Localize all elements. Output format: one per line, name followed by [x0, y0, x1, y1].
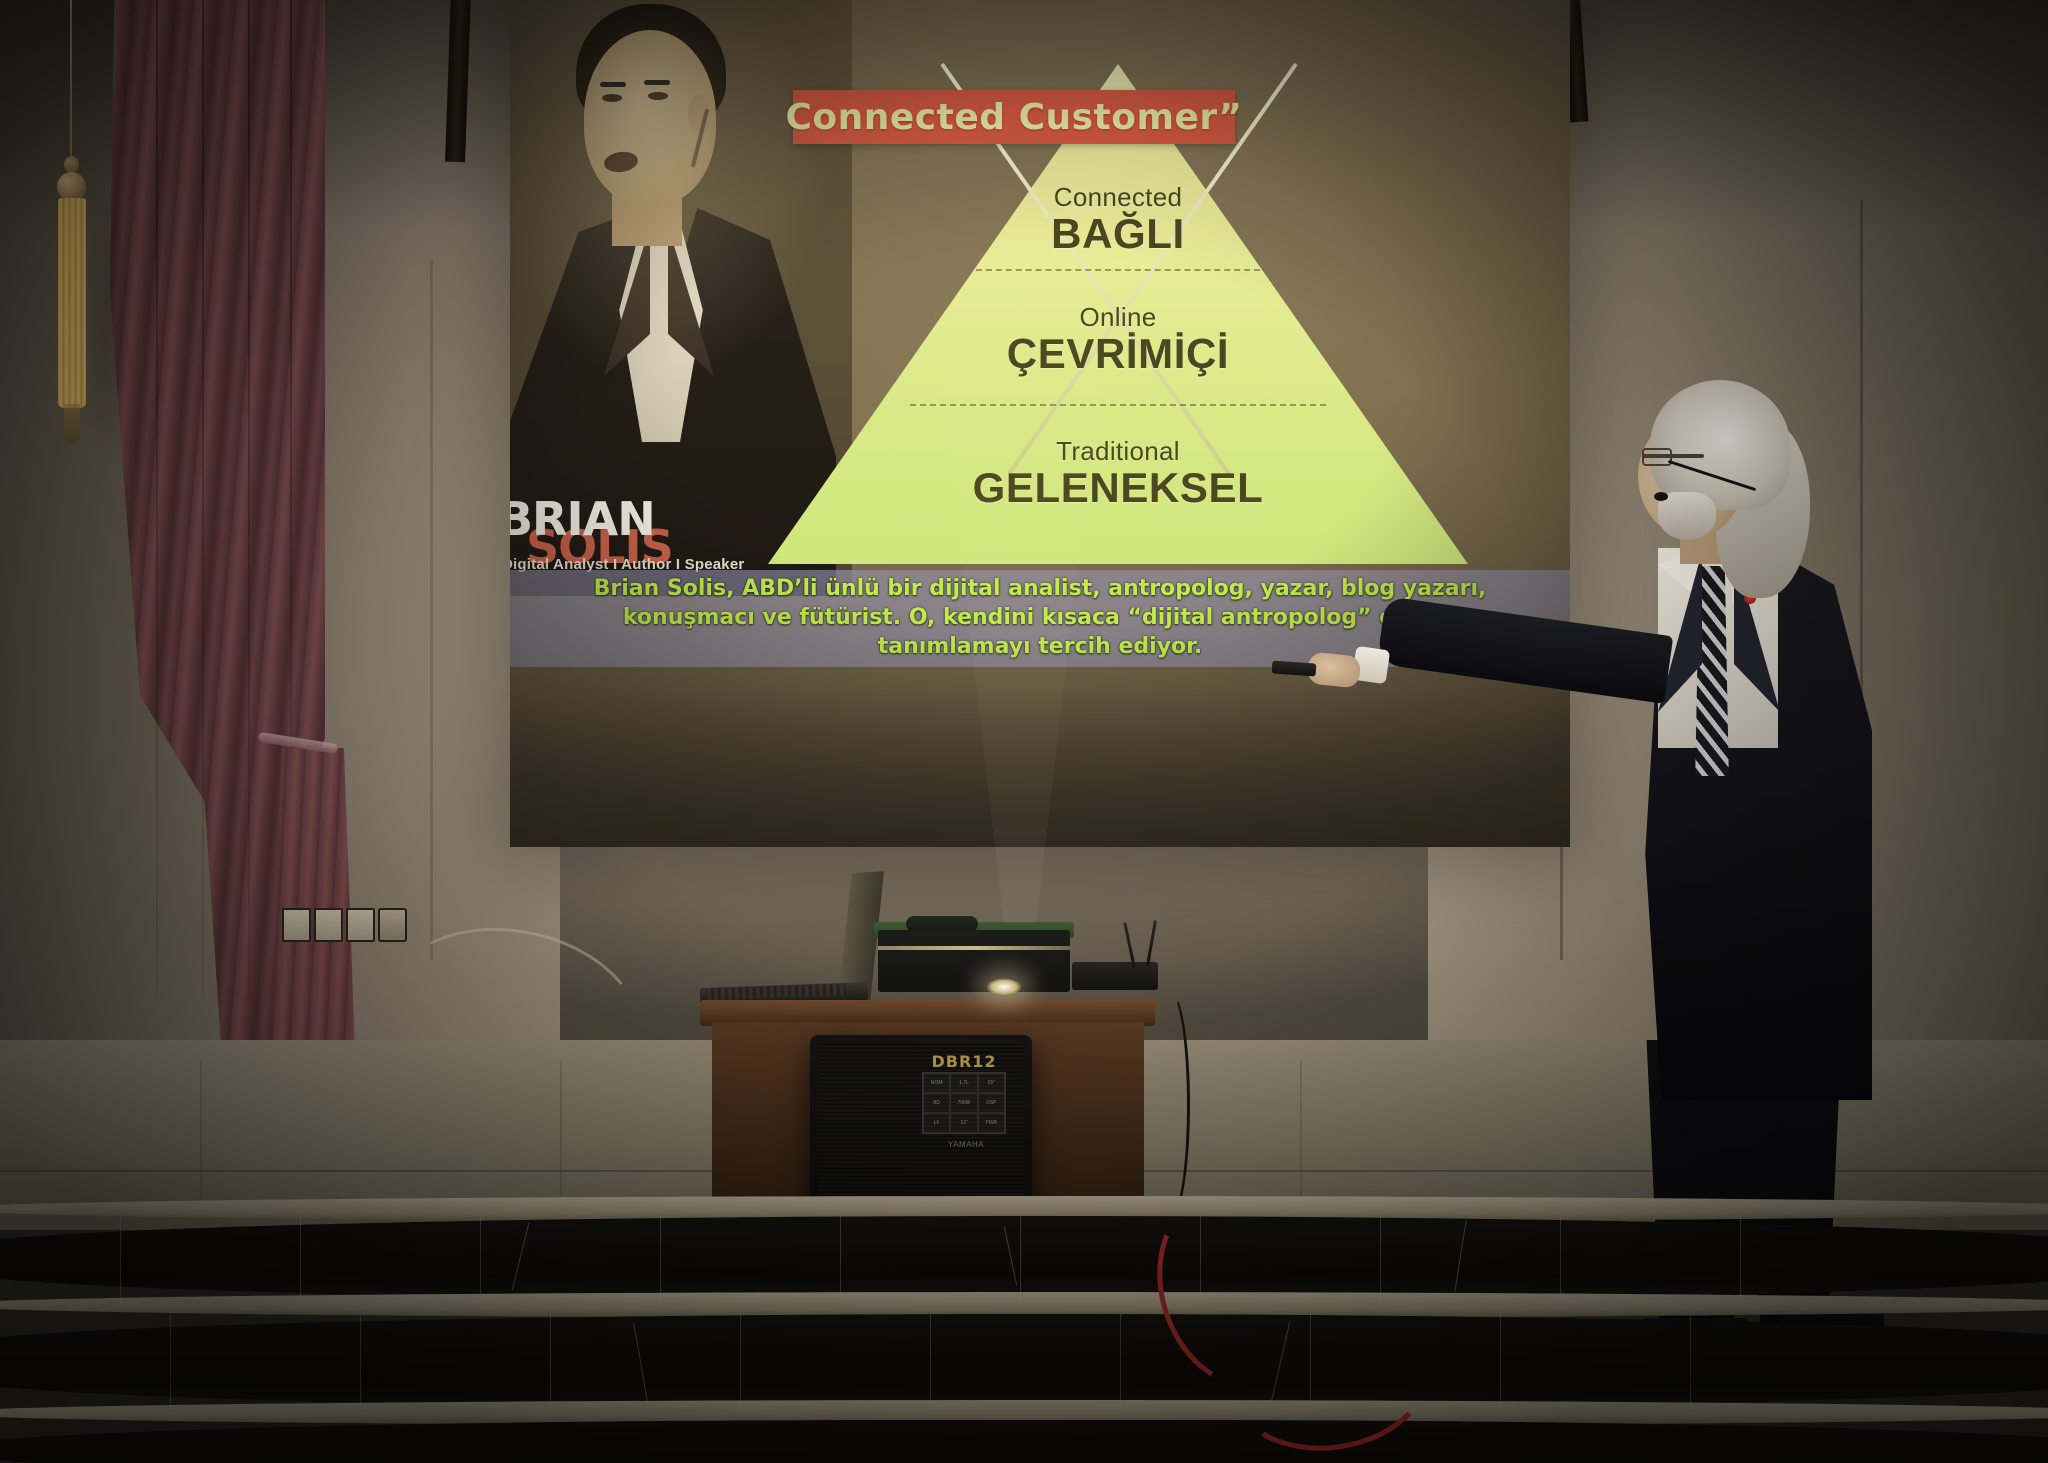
marble-vein	[1004, 1227, 1017, 1286]
tassel-bead	[57, 172, 86, 201]
spec-cell: 15°	[978, 1073, 1005, 1093]
tile-grout-line	[1300, 1060, 1302, 1210]
riser-joint	[1020, 1216, 1021, 1302]
pyramid-divider-2	[910, 404, 1326, 406]
spec-cell: 700W	[950, 1093, 977, 1113]
pyramid-tier-3-english: Traditional	[768, 436, 1468, 467]
step-marble-veins-2	[0, 1314, 2048, 1410]
wireless-router	[1072, 962, 1158, 990]
curtain-fold	[202, 0, 204, 996]
pyramid-tier-1-turkish: BAĞLI	[768, 210, 1468, 258]
riser-joint	[360, 1314, 361, 1410]
riser-joint	[660, 1216, 661, 1302]
pyramid-tier-3-turkish: GELENEKSEL	[768, 464, 1468, 512]
pyramid-tier-2-turkish: ÇEVRİMİÇİ	[768, 330, 1468, 378]
presenter-person	[1490, 380, 1910, 1110]
tile-grout-line	[560, 1060, 562, 1210]
presenter-eyeglasses-temple	[1642, 454, 1704, 458]
curtain-fold	[156, 0, 158, 996]
riser-joint	[1740, 1216, 1741, 1302]
brian-solis-logo: SOLIS BRIAN Digital Analyst I Author I S…	[510, 492, 758, 572]
marble-vein	[633, 1323, 648, 1402]
spec-cell: 12"	[950, 1113, 977, 1133]
projector-trim-strip	[878, 946, 1070, 950]
spec-cell: LF	[923, 1113, 950, 1133]
riser-joint	[1120, 1314, 1121, 1410]
slide-title-banner: Connected Customer”	[793, 90, 1235, 144]
tile-grout-line	[200, 1060, 202, 1200]
subwoofer-spec-plate: NOM 1.7L 15° 8Ω 700W DSP LF 12" PWR	[922, 1072, 1006, 1134]
screen-lower-falloff	[510, 687, 1570, 847]
pyramid-divider-1	[976, 269, 1260, 271]
tassel-bead	[64, 156, 79, 173]
projector-lens-glow	[986, 978, 1022, 996]
step-marble-veins	[0, 1216, 2048, 1302]
projected-slide: Connected BAĞLI Online ÇEVRİMİÇİ Traditi…	[510, 0, 1570, 847]
tassel-shadow	[88, 200, 128, 440]
riser-joint	[300, 1216, 301, 1302]
riser-joint	[480, 1216, 481, 1302]
riser-joint	[550, 1314, 551, 1410]
pyramid-tier-1-english: Connected	[768, 182, 1468, 213]
spec-cell: DSP	[978, 1093, 1005, 1113]
marble-vein	[1454, 1220, 1466, 1291]
projector-cable	[1150, 990, 1190, 1220]
presentation-photo-scene: Connected BAĞLI Online ÇEVRİMİÇİ Traditi…	[0, 0, 2048, 1463]
tassel-tip	[64, 404, 80, 444]
subwoofer-model-label: DBR12	[918, 1052, 1010, 1071]
wall-socket-group	[282, 908, 407, 942]
spec-cell: PWR	[978, 1113, 1005, 1133]
riser-joint	[930, 1314, 931, 1410]
video-projector[interactable]	[878, 930, 1070, 992]
spec-cell: 1.7L	[950, 1073, 977, 1093]
riser-joint	[840, 1216, 841, 1302]
wall-socket-plug	[378, 908, 407, 942]
tassel-cord	[70, 0, 72, 158]
pyramid-tier-2-english: Online	[768, 302, 1468, 333]
riser-joint	[1690, 1314, 1691, 1410]
wall-seam	[430, 260, 433, 960]
curtain-tassel	[26, 0, 146, 460]
wall-socket	[346, 908, 375, 942]
presenter-goatee	[1658, 492, 1716, 540]
spec-cell: 8Ω	[923, 1093, 950, 1113]
wall-socket	[314, 908, 343, 942]
riser-joint	[1500, 1314, 1501, 1410]
riser-joint	[120, 1216, 121, 1302]
tassel-threads	[58, 198, 86, 408]
subwoofer-brand-small: YAMAHA	[938, 1140, 994, 1149]
wall-socket	[282, 908, 311, 942]
step-riser-3	[0, 1420, 2048, 1463]
spec-cell: NOM	[923, 1073, 950, 1093]
riser-joint	[1380, 1216, 1381, 1302]
riser-joint	[740, 1314, 741, 1410]
projection-screen: Connected BAĞLI Online ÇEVRİMİÇİ Traditi…	[510, 0, 1570, 847]
curtain-fold	[248, 0, 250, 996]
presenter-headset-mic	[1654, 492, 1668, 501]
presenter-hair	[1650, 380, 1790, 510]
riser-joint	[1560, 1216, 1561, 1302]
marble-vein	[512, 1223, 530, 1291]
logo-brian-text: BRIAN	[510, 492, 655, 546]
riser-joint	[170, 1314, 171, 1410]
slide-title-text: Connected Customer”	[785, 97, 1242, 138]
